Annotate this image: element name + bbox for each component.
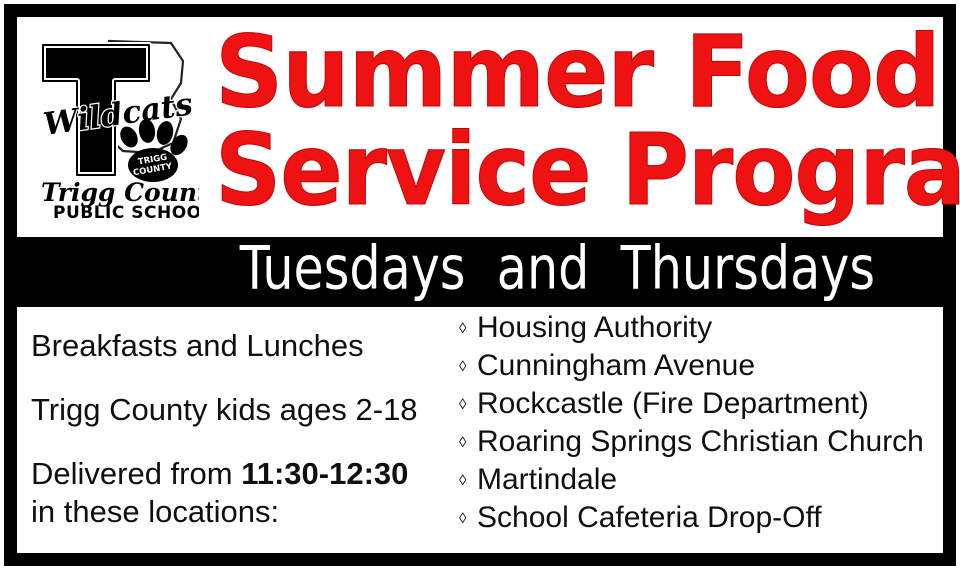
- diamond-bullet-icon: ◊: [459, 385, 466, 425]
- public-schools-text: PUBLIC SCHOOLS: [53, 203, 199, 218]
- delivery-suffix-text: in these locations:: [31, 495, 279, 530]
- title-line-2: Service Program: [215, 121, 960, 220]
- locations-list: ◊ Housing Authority ◊ Cunningham Avenue …: [457, 309, 943, 537]
- title-line-1: Summer Food: [215, 23, 940, 122]
- flyer-title: Summer Food Service Program: [207, 17, 937, 221]
- location-label: School Cafeteria Drop-Off: [477, 501, 822, 534]
- list-item: ◊ Housing Authority: [457, 309, 943, 347]
- list-item: ◊ Martindale: [457, 461, 943, 499]
- diamond-bullet-icon: ◊: [459, 309, 466, 349]
- list-item: ◊ Cunningham Avenue: [457, 347, 943, 385]
- delivery-prefix-text: Delivered from: [31, 456, 241, 491]
- locations-column: ◊ Housing Authority ◊ Cunningham Avenue …: [457, 309, 943, 537]
- delivery-time-text: 11:30-12:30: [241, 456, 408, 491]
- trigg-county-schools-logo: Wildcats TRIGG COUNTY Trigg County P: [31, 23, 199, 218]
- meals-text: Breakfasts and Lunches: [31, 329, 364, 364]
- list-item: ◊ School Cafeteria Drop-Off: [457, 499, 943, 537]
- location-label: Housing Authority: [477, 311, 712, 344]
- days-banner-text: Tuesdays and Thursdays: [239, 238, 874, 298]
- days-banner: Tuesdays and Thursdays: [17, 237, 943, 307]
- location-label: Martindale: [477, 463, 617, 496]
- flyer-content: Wildcats TRIGG COUNTY Trigg County P: [17, 17, 943, 553]
- diamond-bullet-icon: ◊: [459, 347, 466, 387]
- delivery-time-line: Delivered from 11:30-12:30: [31, 457, 408, 492]
- flyer-header: Wildcats TRIGG COUNTY Trigg County P: [17, 17, 943, 221]
- location-label: Roaring Springs Christian Church: [477, 425, 924, 458]
- diamond-bullet-icon: ◊: [459, 499, 466, 539]
- location-label: Cunningham Avenue: [477, 349, 755, 382]
- flyer-body: Breakfasts and Lunches Trigg County kids…: [17, 309, 943, 553]
- days-banner-text-wrap: Tuesdays and Thursdays: [17, 237, 943, 307]
- location-label: Rockcastle (Fire Department): [477, 387, 869, 420]
- list-item: ◊ Rockcastle (Fire Department): [457, 385, 943, 423]
- diamond-bullet-icon: ◊: [459, 461, 466, 501]
- summer-food-service-flyer: Wildcats TRIGG COUNTY Trigg County P: [0, 0, 960, 570]
- diamond-bullet-icon: ◊: [459, 423, 466, 463]
- eligibility-text: Trigg County kids ages 2-18: [31, 393, 418, 428]
- list-item: ◊ Roaring Springs Christian Church: [457, 423, 943, 461]
